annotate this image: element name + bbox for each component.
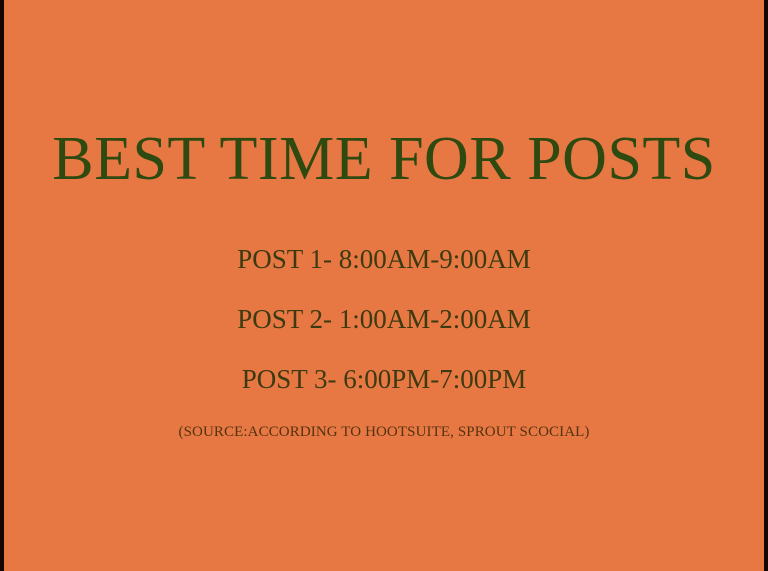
page-title: BEST TIME FOR POSTS: [0, 128, 768, 190]
list-item: POST 2- 1:00AM-2:00AM: [0, 306, 768, 333]
list-item: POST 3- 6:00PM-7:00PM: [0, 366, 768, 393]
source-citation: (SOURCE:ACCORDING TO HOOTSUITE, SPROUT S…: [0, 425, 768, 440]
post-schedule-list: POST 1- 8:00AM-9:00AM POST 2- 1:00AM-2:0…: [0, 246, 768, 426]
list-item: POST 1- 8:00AM-9:00AM: [0, 246, 768, 273]
slide-canvas: BEST TIME FOR POSTS POST 1- 8:00AM-9:00A…: [0, 0, 768, 571]
